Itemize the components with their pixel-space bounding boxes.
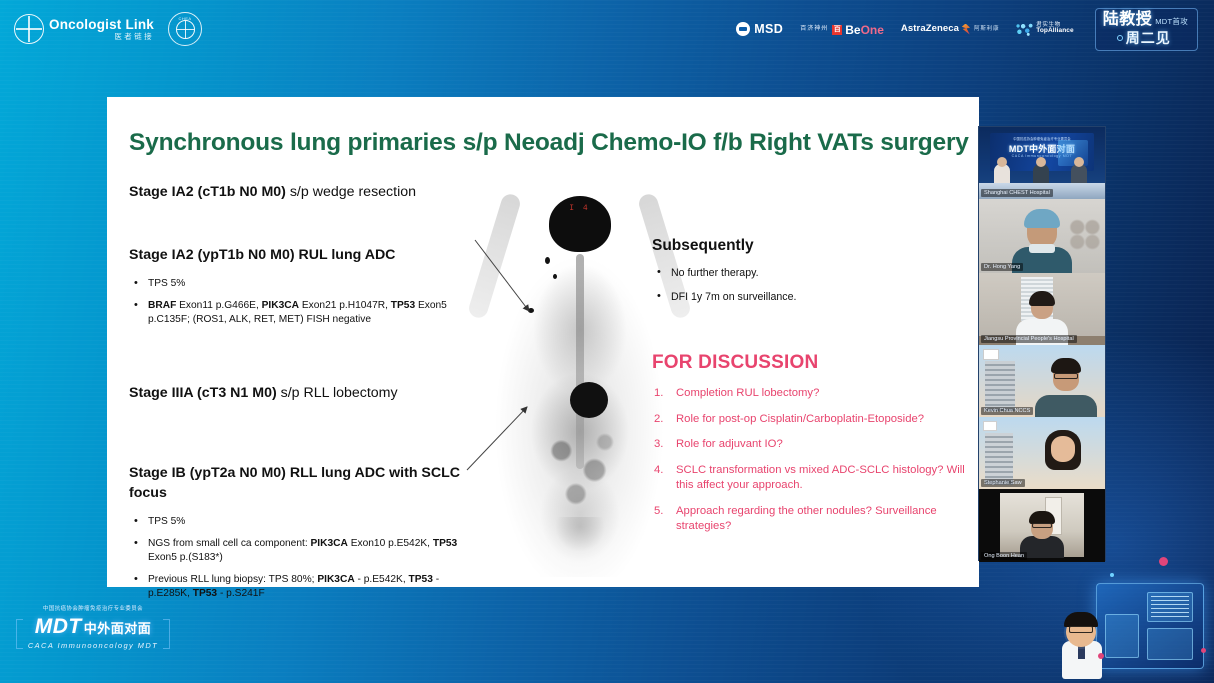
topalliance-logo-icon [1016, 22, 1033, 36]
sponsor-beone-cn: 百济神州 [800, 26, 828, 32]
stage-heading-3-rest: s/p RLL lobectomy [277, 385, 398, 401]
stage-block-1: Stage IA2 (ypT1b N0 M0) RUL lung ADC TPS… [129, 245, 459, 335]
surgical-cap-icon [1024, 209, 1060, 228]
video-tile-hong-yang[interactable]: Dr. Hong Yang [979, 199, 1105, 273]
sparkle-decoration [1159, 557, 1168, 566]
tablet-illustration [1096, 583, 1204, 669]
subsequently-bullets: No further therapy. DFI 1y 7m on surveil… [652, 266, 962, 305]
sparkle-decoration [1201, 648, 1206, 653]
show-schedule: 周二见 [1126, 31, 1171, 45]
video-tile-jiangsu[interactable]: Jiangsu Provincial People's Hospital [979, 273, 1105, 345]
participant-name-label: Jiangsu Provincial People's Hospital [981, 335, 1077, 343]
footer-logo-mdt: MDT [35, 616, 82, 637]
surgical-mask-icon [1029, 244, 1055, 253]
subsequently-block: Subsequently No further therapy. DFI 1y … [652, 237, 962, 315]
slide-title: Synchronous lung primaries s/p Neoadj Ch… [129, 129, 969, 157]
tile-background [985, 433, 1013, 485]
oncologist-link-logo: Oncologist Link 医者链接 [14, 14, 154, 44]
sponsor-logo-group: MSD 百济神州 百 BeOne AstraZeneca 阿斯利康 [736, 8, 1214, 51]
list-item: Role for post-op Cisplatin/Carboplatin-E… [652, 412, 972, 428]
list-item: TPS 5% [129, 277, 459, 291]
globe-icon [14, 14, 44, 44]
sparkle-decoration [1110, 573, 1114, 577]
video-participant-strip[interactable]: 中国抗癌协会肿瘤免疫治疗专业委员会 MDT中外面对面 CACA Immunoon… [978, 126, 1106, 561]
list-item: No further therapy. [652, 266, 962, 280]
sponsor-astrazeneca-label: AstraZeneca [901, 24, 959, 34]
list-item: NGS from small cell ca component: PIK3CA… [129, 537, 469, 565]
footer-logo-cn-top: 中国抗癌协会肿瘤免疫治疗专业委员会 [18, 607, 168, 612]
sponsor-astrazeneca: AstraZeneca 阿斯利康 [901, 24, 999, 35]
video-tile-conference-room[interactable]: 中国抗癌协会肿瘤免疫治疗专业委员会 MDT中外面对面 CACA Immunoon… [979, 127, 1105, 199]
stage-block-2: Stage IB (ypT2a N0 M0) RLL lung ADC with… [129, 463, 469, 609]
list-item: Previous RLL lung biopsy: TPS 80%; PIK3C… [129, 573, 469, 601]
participant-hair [1051, 358, 1081, 373]
msd-logo-icon [736, 22, 750, 36]
tablet-panel-bottom [1147, 628, 1193, 660]
sponsor-topalliance: 君实生物 TopAlliance [1016, 22, 1073, 36]
discussion-title: FOR DISCUSSION [652, 352, 972, 374]
participant-name-label: Kevin Chua NCCS [981, 407, 1033, 415]
tablet-text-lines [1151, 596, 1189, 618]
list-item: Approach regarding the other nodules? Su… [652, 504, 972, 535]
discussion-list: Completion RUL lobectomy? Role for post-… [652, 386, 972, 535]
participant-face [1051, 436, 1075, 462]
footer-logo-en: CACA Immunooncology MDT [18, 642, 168, 650]
glasses-icon [1054, 373, 1078, 379]
astrazeneca-flash-icon [961, 24, 970, 35]
sponsor-astrazeneca-cn: 阿斯利康 [974, 27, 999, 33]
stage-bullets-2: TPS 5% NGS from small cell ca component:… [129, 515, 469, 600]
sponsor-beone: 百济神州 百 BeOne [800, 22, 884, 36]
glasses-icon [1069, 626, 1093, 633]
tile-background [985, 361, 1015, 411]
glasses-icon [1032, 523, 1052, 528]
hospital-watermark [983, 421, 997, 431]
caca-seal-logo: CHEA [168, 12, 202, 46]
caca-mdt-footer-logo: 中国抗癌协会肿瘤免疫治疗专业委员会 MDT 中外面对面 CACA Immunoo… [18, 607, 168, 650]
show-subtitle: MDT首攻 [1155, 18, 1188, 28]
show-host-name: 陆教授 [1103, 12, 1153, 28]
show-title-badge: 陆教授 MDT首攻 周二见 [1095, 8, 1198, 51]
subsequently-heading: Subsequently [652, 237, 962, 255]
list-item: DFI 1y 7m on surveillance. [652, 290, 962, 304]
mascot-graphic [1052, 555, 1210, 683]
top-bar: Oncologist Link 医者链接 CHEA MSD 百济神州 百 BeO… [0, 0, 1214, 58]
sponsor-topalliance-label: TopAlliance [1036, 28, 1073, 35]
list-item: Completion RUL lobectomy? [652, 386, 972, 402]
sponsor-msd: MSD [736, 22, 783, 36]
clock-icon [1117, 35, 1123, 41]
stage-heading-2: Stage IA2 (ypT1b N0 M0) RUL lung ADC [129, 245, 459, 265]
participant-hair [1029, 291, 1055, 306]
seal-globe-icon [176, 20, 195, 39]
mascot-hair [1064, 612, 1098, 627]
bracket-right-decoration [163, 619, 170, 649]
discussion-block: FOR DISCUSSION Completion RUL lobectomy?… [652, 352, 972, 545]
stage-bullets-1: TPS 5% BRAF Exon11 p.G466E, PIK3CA Exon2… [129, 277, 459, 327]
participant-name-label: Ong Boon Hean [981, 552, 1027, 560]
stage-heading-3-bold: Stage IIIA (cT3 N1 M0) [129, 385, 277, 401]
participant-name-label: Dr. Hong Yang [981, 263, 1023, 271]
tablet-panel-left [1105, 614, 1139, 658]
participant-name-label: Stephanie Saw [981, 479, 1025, 487]
mascot-tie [1078, 645, 1085, 659]
list-item: SCLC transformation vs mixed ADC-SCLC hi… [652, 463, 972, 494]
stage-heading-4: Stage IB (ypT2a N0 M0) RLL lung ADC with… [129, 463, 469, 503]
stage-heading-3: Stage IIIA (cT3 N1 M0) s/p RLL lobectomy [129, 383, 469, 403]
video-tile-stephanie-saw[interactable]: Stephanie Saw [979, 417, 1105, 489]
broadcast-stage: Oncologist Link 医者链接 CHEA MSD 百济神州 百 BeO… [0, 0, 1214, 683]
hospital-watermark [983, 349, 999, 360]
participant-shirt [1035, 395, 1097, 417]
beone-mark-icon: 百 [832, 25, 842, 35]
oncologist-link-name: Oncologist Link [49, 18, 154, 32]
presentation-slide: Synchronous lung primaries s/p Neoadj Ch… [107, 97, 979, 587]
oncologist-link-subtitle: 医者链接 [49, 33, 154, 41]
bracket-left-decoration [16, 619, 23, 649]
video-tile-kevin-chua[interactable]: Kevin Chua NCCS [979, 345, 1105, 417]
footer-logo-cn-main: 中外面对面 [84, 622, 152, 635]
sponsor-msd-label: MSD [754, 22, 783, 36]
stage-heading-1: Stage IA2 (cT1b N0 M0) s/p wedge resecti… [129, 182, 459, 202]
brand-logo-group: Oncologist Link 医者链接 CHEA [0, 12, 202, 46]
stage-heading-1-rest: s/p wedge resection [286, 184, 416, 200]
list-item: TPS 5% [129, 515, 469, 529]
list-item: BRAF Exon11 p.G466E, PIK3CA Exon21 p.H10… [129, 299, 459, 327]
room-banner-en: MDT [1009, 144, 1029, 154]
sponsor-beone-label: BeOne [845, 24, 884, 36]
participant-name-label: Shanghai CHEST Hospital [981, 189, 1053, 197]
video-tile-ong-boon-hean[interactable]: Ong Boon Hean [979, 489, 1105, 562]
list-item: Role for adjuvant IO? [652, 437, 972, 453]
sparkle-decoration [1098, 653, 1104, 659]
stage-heading-1-bold: Stage IA2 (cT1b N0 M0) [129, 184, 286, 200]
